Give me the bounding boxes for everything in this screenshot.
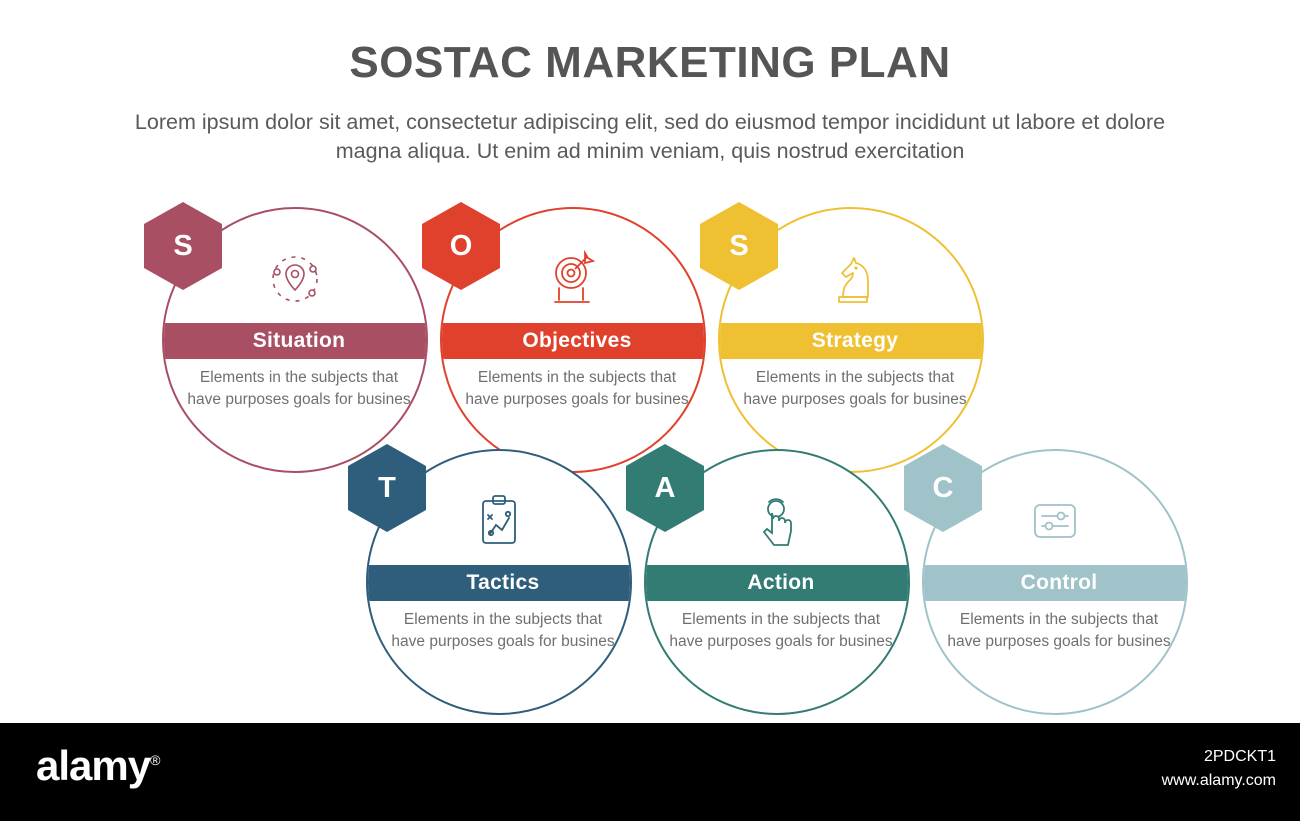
card-badge-letter: O: [450, 230, 473, 263]
card-badge-letter: T: [378, 472, 396, 505]
card-situation[interactable]: Situation Elements in the subjects that …: [162, 207, 432, 477]
image-id: 2PDCKT1: [1162, 745, 1276, 769]
card-description: Elements in the subjects that have purpo…: [942, 609, 1176, 652]
alamy-logo: alamy®: [36, 742, 159, 790]
location-pin-network-icon: [263, 247, 327, 311]
hand-click-icon: [745, 489, 809, 553]
card-description: Elements in the subjects that have purpo…: [738, 367, 972, 410]
card-title-band: Objectives: [442, 323, 706, 359]
card-title: Situation: [253, 329, 346, 353]
card-title: Control: [1021, 571, 1098, 595]
card-title: Action: [747, 571, 814, 595]
page-subtitle: Lorem ipsum dolor sit amet, consectetur …: [100, 108, 1200, 166]
card-strategy[interactable]: Strategy Elements in the subjects that h…: [718, 207, 988, 477]
card-description: Elements in the subjects that have purpo…: [182, 367, 416, 410]
card-description: Elements in the subjects that have purpo…: [664, 609, 898, 652]
card-objectives[interactable]: Objectives Elements in the subjects that…: [440, 207, 710, 477]
card-title-band: Tactics: [368, 565, 632, 601]
clipboard-strategy-icon: [467, 489, 531, 553]
chess-knight-icon: [819, 247, 883, 311]
footer-bar: [0, 723, 1300, 821]
target-dartboard-icon: [541, 247, 605, 311]
card-description: Elements in the subjects that have purpo…: [460, 367, 694, 410]
card-badge-letter: S: [729, 230, 748, 263]
card-control[interactable]: Control Elements in the subjects that ha…: [922, 449, 1192, 719]
card-title-band: Situation: [164, 323, 428, 359]
card-badge-letter: A: [655, 472, 676, 505]
card-title: Objectives: [522, 329, 631, 353]
alamy-logo-text: alamy: [36, 742, 150, 789]
alamy-trademark: ®: [150, 752, 159, 768]
footer-meta: 2PDCKT1 www.alamy.com: [1162, 745, 1276, 793]
card-description: Elements in the subjects that have purpo…: [386, 609, 620, 652]
card-action[interactable]: Action Elements in the subjects that hav…: [644, 449, 914, 719]
card-title: Strategy: [812, 329, 898, 353]
card-tactics[interactable]: Tactics Elements in the subjects that ha…: [366, 449, 636, 719]
card-title-band: Strategy: [720, 323, 984, 359]
website-url: www.alamy.com: [1162, 769, 1276, 793]
card-badge-letter: C: [933, 472, 954, 505]
card-title-band: Action: [646, 565, 910, 601]
card-badge-letter: S: [173, 230, 192, 263]
infographic-canvas: SOSTAC MARKETING PLAN Lorem ipsum dolor …: [0, 0, 1300, 723]
card-title: Tactics: [467, 571, 540, 595]
page-title: SOSTAC MARKETING PLAN: [0, 38, 1300, 88]
settings-sliders-icon: [1023, 489, 1087, 553]
card-title-band: Control: [924, 565, 1188, 601]
